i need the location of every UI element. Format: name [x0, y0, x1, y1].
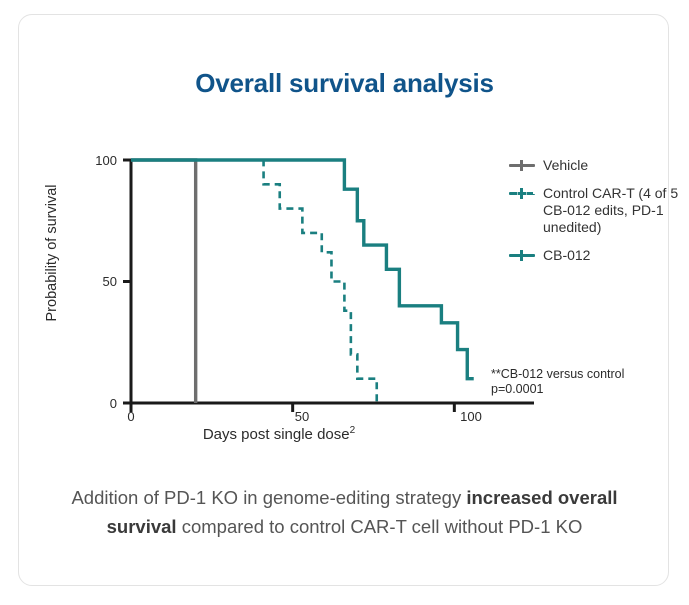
legend-dashed-line-icon-control: [509, 185, 535, 202]
figure-caption: Addition of PD-1 KO in genome-editing st…: [67, 483, 622, 541]
legend-line-icon-vehicle: [509, 157, 535, 174]
caption-part-2: compared to control CAR-T cell without P…: [177, 516, 583, 537]
axis-layer: [123, 160, 534, 412]
series-line-vehicle: [131, 160, 196, 403]
annotation-line-2: p=0.0001: [491, 382, 661, 397]
legend-item-vehicle[interactable]: Vehicle: [509, 157, 681, 174]
legend-line-icon-cb012: [509, 247, 535, 264]
legend-label-cb012: CB-012: [543, 247, 590, 264]
legend-item-control-cart[interactable]: Control CAR-T (4 of 5 CB-012 edits, PD-1…: [509, 185, 681, 236]
series-layer: [131, 160, 474, 403]
legend-item-cb012[interactable]: CB-012: [509, 247, 681, 264]
plot-area: Probability of survival 100 50 0 0 50 10…: [19, 15, 670, 465]
legend-label-control-cart: Control CAR-T (4 of 5 CB-012 edits, PD-1…: [543, 185, 681, 236]
chart-legend: Vehicle Control CAR-T (4 of 5 CB-012 edi…: [509, 157, 681, 275]
annotation-line-1: **CB-012 versus control: [491, 367, 661, 382]
caption-part-1: Addition of PD-1 KO in genome-editing st…: [71, 487, 466, 508]
legend-label-vehicle: Vehicle: [543, 157, 588, 174]
significance-annotation: **CB-012 versus control p=0.0001: [491, 367, 661, 396]
chart-card: Overall survival analysis Probability of…: [18, 14, 669, 586]
series-line-control: [131, 160, 377, 403]
series-line-cb012: [131, 160, 474, 379]
